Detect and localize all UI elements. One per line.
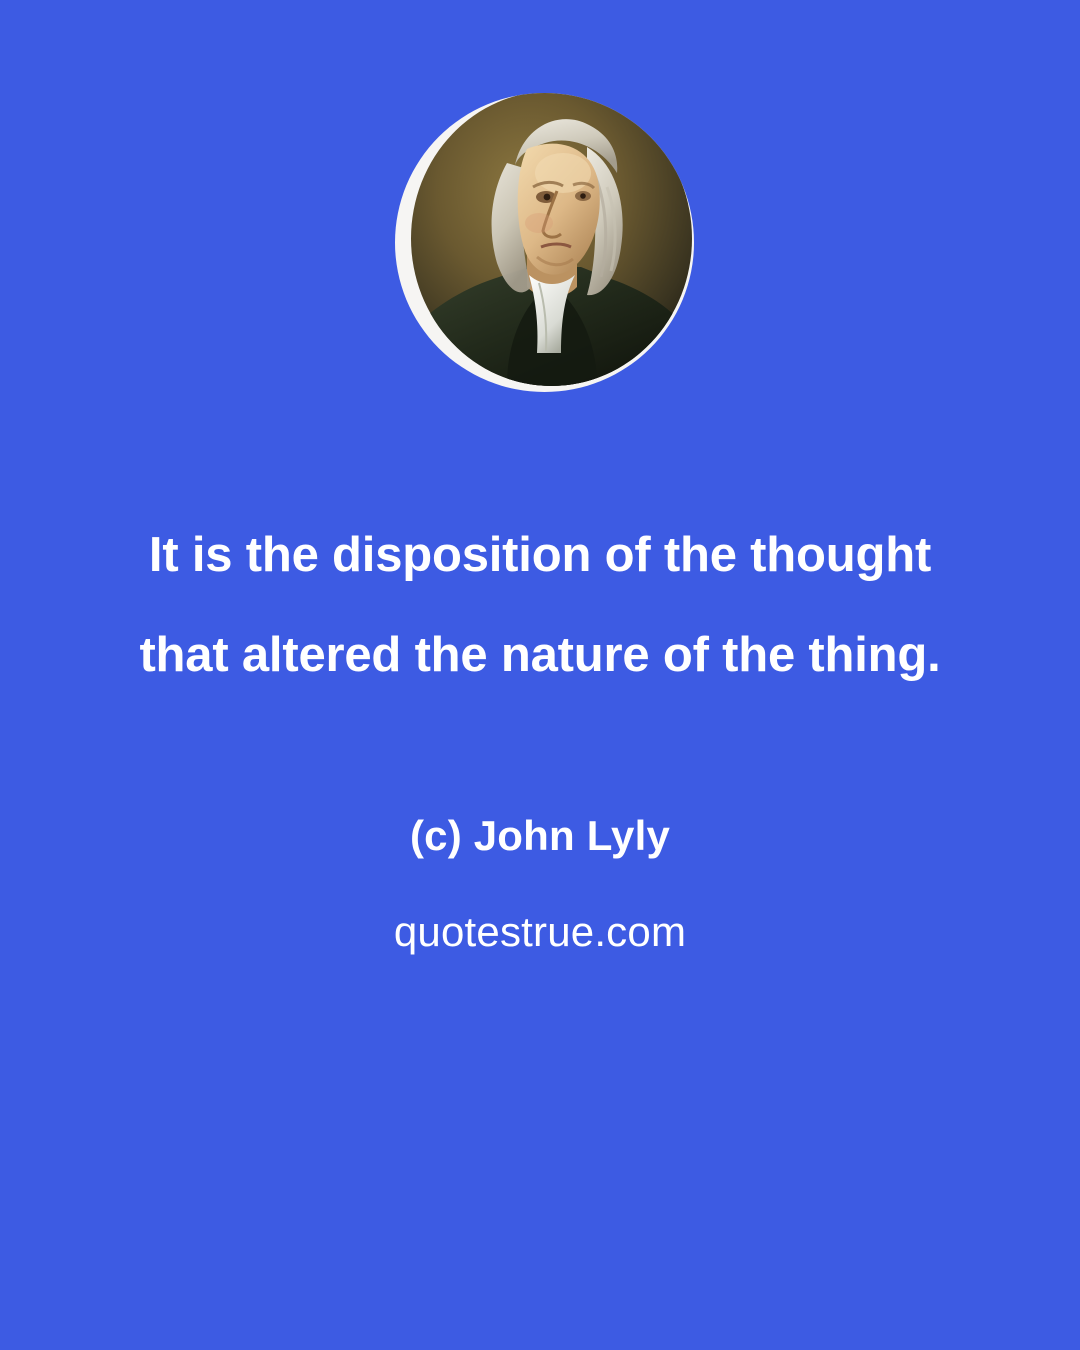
quote-text: It is the disposition of the thought tha… <box>60 505 1020 705</box>
quote-card: It is the disposition of the thought tha… <box>0 0 1080 1350</box>
quote-attribution: (c) John Lyly <box>60 812 1020 860</box>
author-portrait-image <box>411 93 692 386</box>
author-portrait <box>395 93 694 392</box>
quote-line: It is the disposition of the thought <box>60 505 1020 605</box>
website-watermark: quotestrue.com <box>60 908 1020 956</box>
quote-line: that altered the nature of the thing. <box>60 605 1020 705</box>
